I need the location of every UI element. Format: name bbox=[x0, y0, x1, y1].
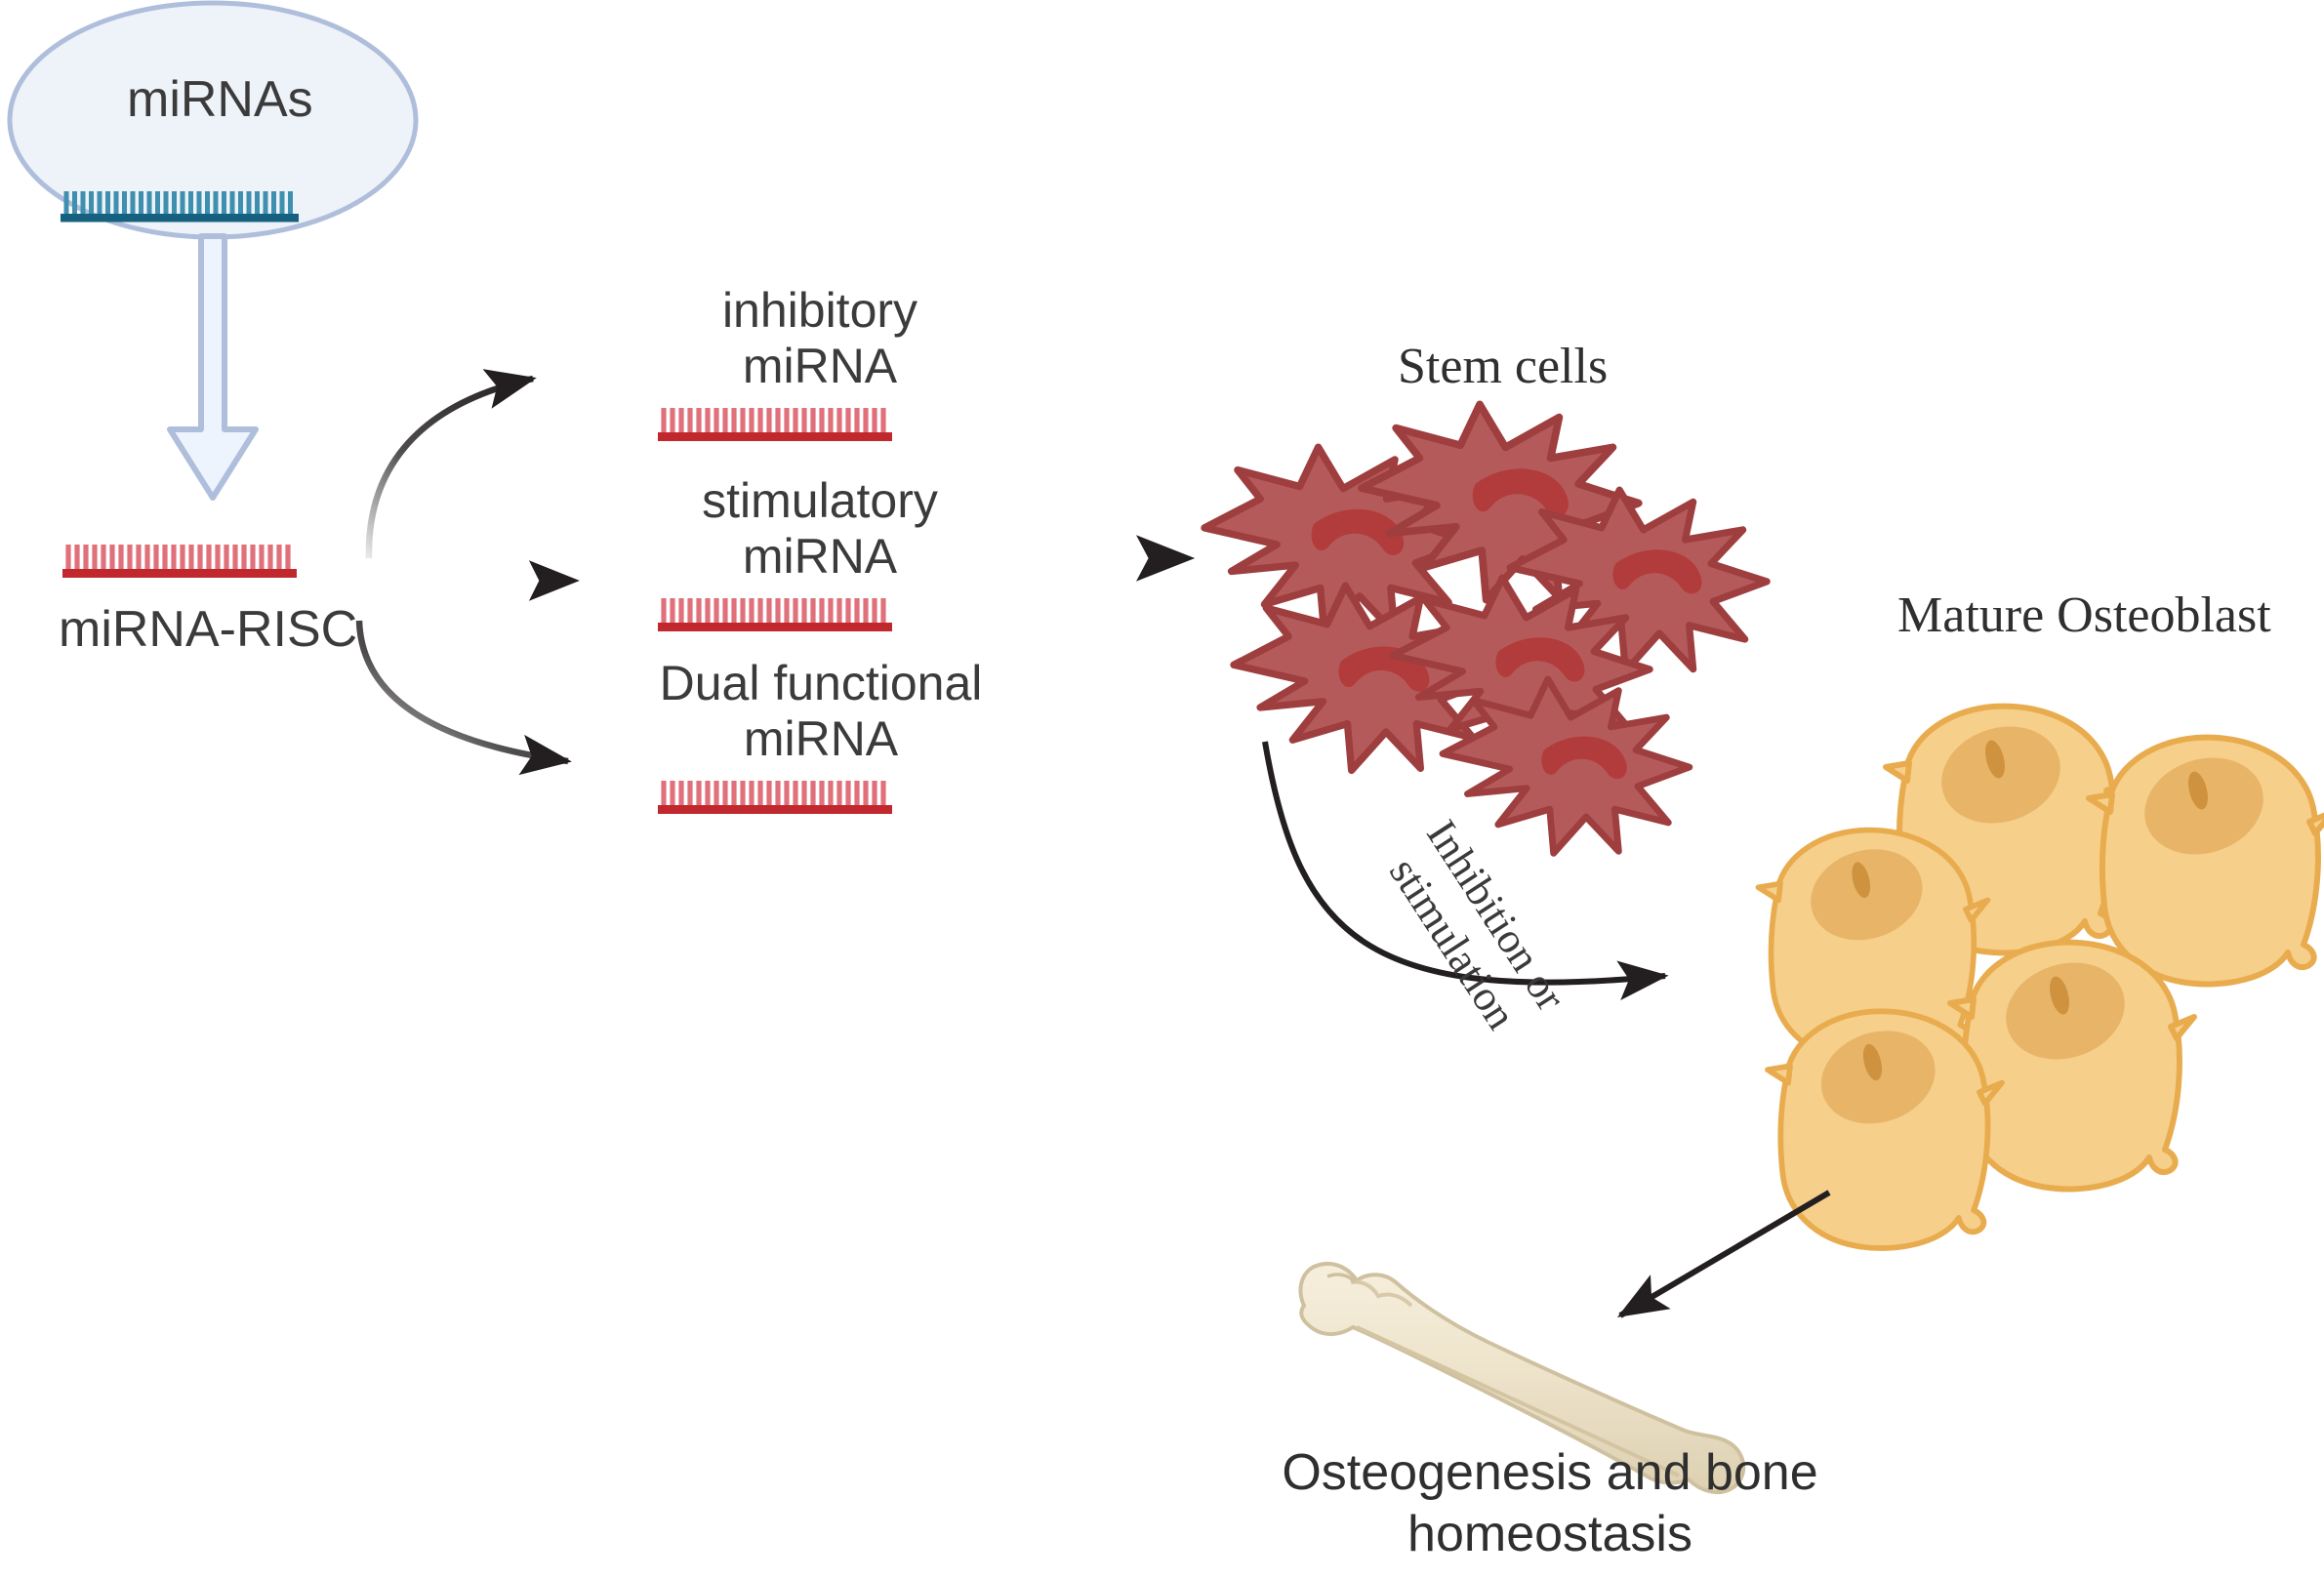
osteogenesis-caption-line1: Osteogenesis and bone bbox=[1213, 1442, 1887, 1504]
mirna-risc-label: miRNA-RISC bbox=[59, 600, 357, 660]
inhibitory-mirna-label: inhibitory miRNA bbox=[673, 283, 966, 394]
arrow-osteoblast-to-bone bbox=[1620, 1193, 1829, 1315]
dual-functional-mirna-label: Dual functional miRNA bbox=[644, 656, 998, 767]
mirna-strand-icon-inhibitory bbox=[658, 408, 892, 441]
inhibitory-mirna-line2: miRNA bbox=[673, 339, 966, 394]
diagram-canvas: miRNAs miRNA-RISC inhibitory miRNA stimu… bbox=[0, 0, 2324, 1578]
arrow-risc-to-inhibitory bbox=[369, 379, 533, 558]
dual-functional-mirna-line2: miRNA bbox=[644, 711, 998, 767]
mirna-strand-icon-dual bbox=[658, 781, 892, 814]
block-arrow-down-icon bbox=[170, 236, 256, 498]
stem-cells-label: Stem cells bbox=[1398, 337, 1608, 396]
dual-functional-mirna-line1: Dual functional bbox=[644, 656, 998, 711]
stem-cell-cluster-icon bbox=[1204, 404, 1767, 853]
diagram-vector-layer bbox=[0, 0, 2324, 1578]
inhibitory-mirna-line1: inhibitory bbox=[673, 283, 966, 339]
stimulatory-mirna-label: stimulatory miRNA bbox=[672, 473, 968, 585]
mirna-strand-icon-risc bbox=[62, 545, 297, 578]
mature-osteoblast-label: Mature Osteoblast bbox=[1897, 586, 2271, 645]
mirnas-label: miRNAs bbox=[127, 70, 313, 130]
osteogenesis-caption-line2: homeostasis bbox=[1213, 1504, 1887, 1565]
osteoblast-cluster-icon bbox=[1758, 707, 2324, 1248]
osteogenesis-caption: Osteogenesis and bone homeostasis bbox=[1213, 1442, 1887, 1566]
arrow-risc-to-dual bbox=[359, 621, 568, 761]
stimulatory-mirna-line2: miRNA bbox=[672, 529, 968, 585]
mirna-strand-icon-stimulatory bbox=[658, 598, 892, 631]
stimulatory-mirna-line1: stimulatory bbox=[672, 473, 968, 529]
